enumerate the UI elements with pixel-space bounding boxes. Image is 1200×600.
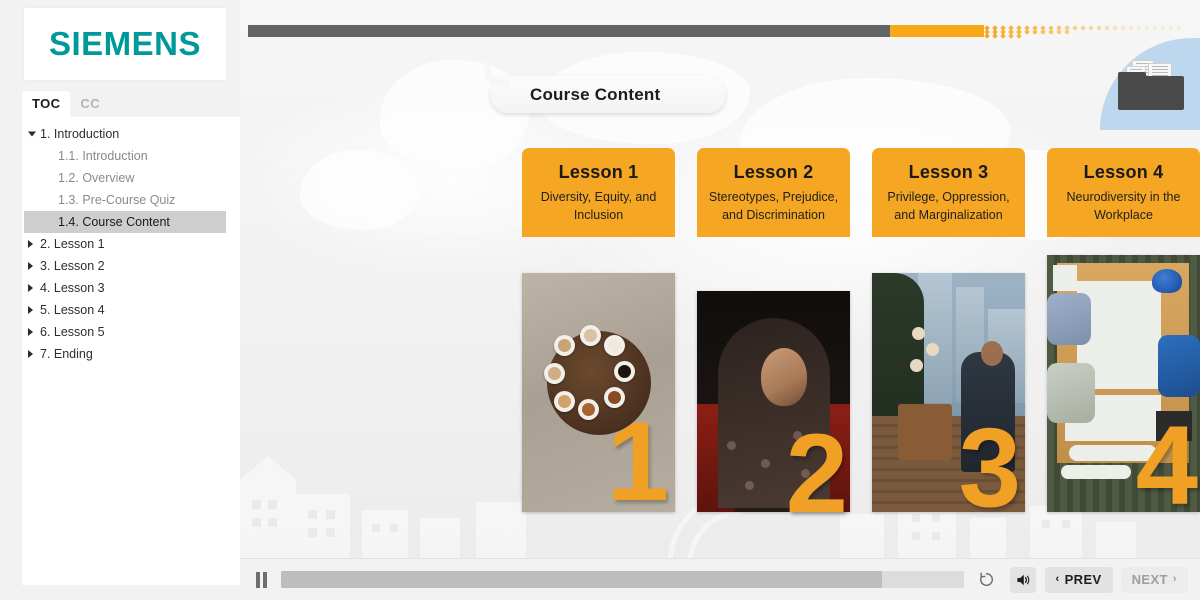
progress-dot xyxy=(1176,25,1182,31)
progress-dot-column xyxy=(1120,25,1126,37)
page-title: Course Content xyxy=(530,85,660,105)
progress-dot-column xyxy=(984,25,990,37)
volume-on-icon xyxy=(1015,572,1031,588)
chevron-left-icon: ‹ xyxy=(1056,574,1060,585)
lesson-card-number: 1 xyxy=(607,406,669,518)
lesson-card-title: Lesson 4 xyxy=(1057,162,1190,183)
progress-dot-column xyxy=(1176,25,1182,37)
toc-item[interactable]: 1.3. Pre-Course Quiz xyxy=(22,189,240,211)
progress-dot xyxy=(1168,25,1174,31)
lesson-card-header: Lesson 4 Neurodiversity in the Workplace xyxy=(1047,148,1200,237)
progress-dot xyxy=(1144,25,1150,31)
tab-toc[interactable]: TOC xyxy=(22,91,70,117)
toc-item-label: 3. Lesson 2 xyxy=(40,259,105,273)
progress-completed-segment xyxy=(248,25,890,37)
next-button-label: NEXT xyxy=(1132,572,1168,587)
progress-current-segment xyxy=(890,25,984,37)
scarf-pattern-dot xyxy=(745,481,754,490)
toc-item-label: 2. Lesson 1 xyxy=(40,237,105,251)
progress-dot-column xyxy=(1048,25,1054,37)
progress-dot-column xyxy=(1016,25,1022,37)
lesson-card-list: Lesson 1 Diversity, Equity, and Inclusio… xyxy=(522,148,1200,512)
slide-progress-bar xyxy=(248,25,1192,37)
scarf-pattern-dot xyxy=(761,459,770,468)
progress-dot-column xyxy=(1064,25,1070,37)
worker xyxy=(1158,335,1200,397)
toc-item[interactable]: 1. Introduction xyxy=(22,123,240,145)
progress-dot xyxy=(1120,25,1126,31)
slide-stage: Course Content Lesson 1 Diversity, Equit… xyxy=(240,0,1200,600)
flower xyxy=(926,343,939,356)
progress-dot-column xyxy=(1096,25,1102,37)
progress-dot xyxy=(1040,29,1046,35)
progress-dot xyxy=(1096,25,1102,31)
volume-button[interactable] xyxy=(1010,567,1036,593)
progress-dotted-segment xyxy=(984,25,1192,37)
coffee-cup xyxy=(554,335,575,356)
corner-decoration xyxy=(1092,38,1200,130)
tab-cc[interactable]: CC xyxy=(70,91,110,117)
slide-title-tab: Course Content xyxy=(490,76,726,113)
siemens-logo-text: SIEMENS xyxy=(49,25,201,63)
progress-dot-column xyxy=(1152,25,1158,37)
progress-dot xyxy=(1032,29,1038,35)
replay-button[interactable] xyxy=(974,567,1000,593)
toc-item[interactable]: 1.4. Course Content xyxy=(24,211,226,233)
progress-dot xyxy=(1112,25,1118,31)
prev-button[interactable]: ‹ PREV xyxy=(1045,567,1113,593)
lesson-card-header: Lesson 3 Privilege, Oppression, and Marg… xyxy=(872,148,1025,237)
progress-dot xyxy=(1160,25,1166,31)
lesson-card-number: 4 xyxy=(1136,410,1198,522)
toc-item[interactable]: 6. Lesson 5 xyxy=(22,321,240,343)
seek-bar-fill xyxy=(281,571,882,588)
chevron-right-icon[interactable] xyxy=(28,240,33,248)
sidebar-tabstrip: TOC CC xyxy=(22,90,240,117)
pause-bar xyxy=(263,572,267,588)
hard-hat xyxy=(1152,269,1182,293)
progress-dot xyxy=(1152,25,1158,31)
next-button[interactable]: NEXT › xyxy=(1121,567,1188,593)
chevron-right-icon: › xyxy=(1173,574,1177,585)
toc-item-label: 6. Lesson 5 xyxy=(40,325,105,339)
coffee-cup xyxy=(544,363,565,384)
progress-dot-column xyxy=(1144,25,1150,37)
toc-item[interactable]: 1.2. Overview xyxy=(22,167,240,189)
seek-bar[interactable] xyxy=(281,571,964,588)
progress-dot xyxy=(1104,25,1110,31)
lesson-card[interactable]: Lesson 2 Stereotypes, Prejudice, and Dis… xyxy=(697,148,850,512)
chevron-right-icon[interactable] xyxy=(28,328,33,336)
replay-icon xyxy=(978,571,995,588)
worker xyxy=(1047,293,1091,345)
progress-dot xyxy=(1024,29,1030,35)
folder-documents-icon xyxy=(1118,60,1184,110)
progress-dot xyxy=(1128,25,1134,31)
progress-dot-column xyxy=(1160,25,1166,37)
paper-stack xyxy=(1053,265,1077,291)
progress-dot-column xyxy=(1008,25,1014,37)
progress-dot-column xyxy=(1168,25,1174,37)
lesson-card[interactable]: Lesson 3 Privilege, Oppression, and Marg… xyxy=(872,148,1025,512)
coffee-cup xyxy=(580,325,601,346)
progress-dot-column xyxy=(1080,25,1086,37)
progress-dot xyxy=(1088,25,1094,31)
head xyxy=(981,341,1003,366)
flower xyxy=(912,327,925,340)
pause-bar xyxy=(256,572,260,588)
toc-item-label: 1.4. Course Content xyxy=(58,215,170,229)
toc-item[interactable]: 1.1. Introduction xyxy=(22,145,240,167)
coffee-cup xyxy=(604,335,625,356)
progress-dot-column xyxy=(1040,25,1046,37)
coffee-cup xyxy=(614,361,635,382)
progress-dot-column xyxy=(1024,25,1030,37)
toc-item-label: 1.1. Introduction xyxy=(58,149,148,163)
sidebar: SIEMENS TOC CC 1. Introduction1.1. Intro… xyxy=(0,0,240,600)
brand-logo: SIEMENS xyxy=(24,8,226,80)
lesson-card-subtitle: Stereotypes, Prejudice, and Discriminati… xyxy=(707,189,840,225)
toc-item[interactable]: 4. Lesson 3 xyxy=(22,277,240,299)
lesson-card-title: Lesson 2 xyxy=(707,162,840,183)
progress-dot-column xyxy=(1056,25,1062,37)
toc-item-label: 1.3. Pre-Course Quiz xyxy=(58,193,175,207)
lesson-card-subtitle: Neurodiversity in the Workplace xyxy=(1057,189,1190,225)
lesson-card-header: Lesson 1 Diversity, Equity, and Inclusio… xyxy=(522,148,675,237)
coffee-cup xyxy=(578,399,599,420)
progress-dot-column xyxy=(992,25,998,37)
chevron-right-icon[interactable] xyxy=(28,262,33,270)
progress-dot-column xyxy=(1032,25,1038,37)
face xyxy=(761,348,807,406)
player-controls: ‹ PREV NEXT › xyxy=(240,558,1200,600)
flower xyxy=(910,359,923,372)
progress-dot-column xyxy=(1136,25,1142,37)
toc-item-label: 5. Lesson 4 xyxy=(40,303,105,317)
toc-item-label: 4. Lesson 3 xyxy=(40,281,105,295)
pause-button[interactable] xyxy=(253,570,271,590)
lesson-card[interactable]: Lesson 1 Diversity, Equity, and Inclusio… xyxy=(522,148,675,512)
prev-button-label: PREV xyxy=(1065,572,1102,587)
folder-body xyxy=(1118,76,1184,110)
progress-dot-column xyxy=(1128,25,1134,37)
toc-item[interactable]: 7. Ending xyxy=(22,343,240,365)
progress-dot-column xyxy=(1000,25,1006,37)
progress-dot-column xyxy=(1104,25,1110,37)
toc-item-label: 1. Introduction xyxy=(40,127,119,141)
progress-dot xyxy=(1064,29,1070,35)
chevron-right-icon[interactable] xyxy=(28,306,33,314)
progress-dot-column xyxy=(1112,25,1118,37)
chevron-down-icon[interactable] xyxy=(28,132,36,137)
lesson-card-title: Lesson 3 xyxy=(882,162,1015,183)
chevron-right-icon[interactable] xyxy=(28,350,33,358)
toc-item-label: 7. Ending xyxy=(40,347,93,361)
lesson-card-number: 2 xyxy=(786,418,848,530)
lesson-card-header: Lesson 2 Stereotypes, Prejudice, and Dis… xyxy=(697,148,850,237)
chevron-right-icon[interactable] xyxy=(28,284,33,292)
toc-item[interactable]: 3. Lesson 2 xyxy=(22,255,240,277)
rolled-plan xyxy=(1061,465,1131,479)
toc-panel: 1. Introduction1.1. Introduction1.2. Ove… xyxy=(22,117,240,585)
progress-dot xyxy=(1080,25,1086,31)
worker xyxy=(1047,363,1095,423)
toc-item[interactable]: 2. Lesson 1 xyxy=(22,233,240,255)
scarf-pattern-dot xyxy=(727,441,736,450)
wooden-chair xyxy=(898,404,952,460)
progress-dot-column xyxy=(1072,25,1078,37)
lesson-card-subtitle: Privilege, Oppression, and Marginalizati… xyxy=(882,189,1015,225)
progress-dot xyxy=(1136,25,1142,31)
progress-dot-column xyxy=(1088,25,1094,37)
progress-dot xyxy=(1048,29,1054,35)
toc-item[interactable]: 5. Lesson 4 xyxy=(22,299,240,321)
lesson-card-number: 3 xyxy=(959,412,1021,524)
progress-dot xyxy=(1056,29,1062,35)
toc-item-label: 1.2. Overview xyxy=(58,171,134,185)
lesson-card-subtitle: Diversity, Equity, and Inclusion xyxy=(532,189,665,225)
map-watermark-blob xyxy=(300,150,420,230)
coffee-cup xyxy=(554,391,575,412)
lesson-card-title: Lesson 1 xyxy=(532,162,665,183)
course-player: SIEMENS TOC CC 1. Introduction1.1. Intro… xyxy=(0,0,1200,600)
progress-dot xyxy=(1072,25,1078,31)
lesson-card[interactable]: Lesson 4 Neurodiversity in the Workplace xyxy=(1047,148,1200,512)
